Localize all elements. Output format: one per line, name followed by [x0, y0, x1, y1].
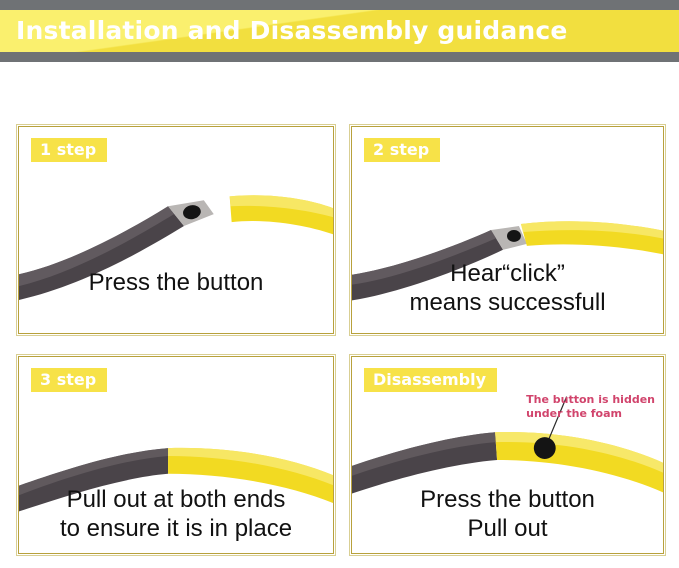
hidden-button-marker	[534, 437, 556, 459]
panel-grid: 1 step Press the button 2 step Hear“clic…	[0, 62, 679, 568]
disassembly-badge: Disassembly	[364, 368, 497, 392]
page-title: Installation and Disassembly guidance	[16, 11, 568, 51]
hidden-button-annotation: The button is hidden under the foam	[526, 393, 655, 421]
step-panel-1: 1 step Press the button	[18, 126, 334, 334]
disassembly-panel: Disassembly The button is hidden under t…	[351, 356, 664, 554]
step-badge-3: 3 step	[31, 368, 107, 392]
step-caption-2: Hear“click” means successfull	[352, 259, 663, 317]
step-panel-3: 3 step Pull out at both ends to ensure i…	[18, 356, 334, 554]
step-caption-1: Press the button	[19, 268, 333, 297]
disassembly-caption: Press the button Pull out	[352, 485, 663, 543]
step-badge-2: 2 step	[364, 138, 440, 162]
step-panel-2: 2 step Hear“click” means successfull	[351, 126, 664, 334]
step-badge-1: 1 step	[31, 138, 107, 162]
step-caption-3: Pull out at both ends to ensure it is in…	[19, 485, 333, 543]
release-button	[507, 230, 521, 242]
header-bar: Installation and Disassembly guidance	[0, 0, 679, 62]
